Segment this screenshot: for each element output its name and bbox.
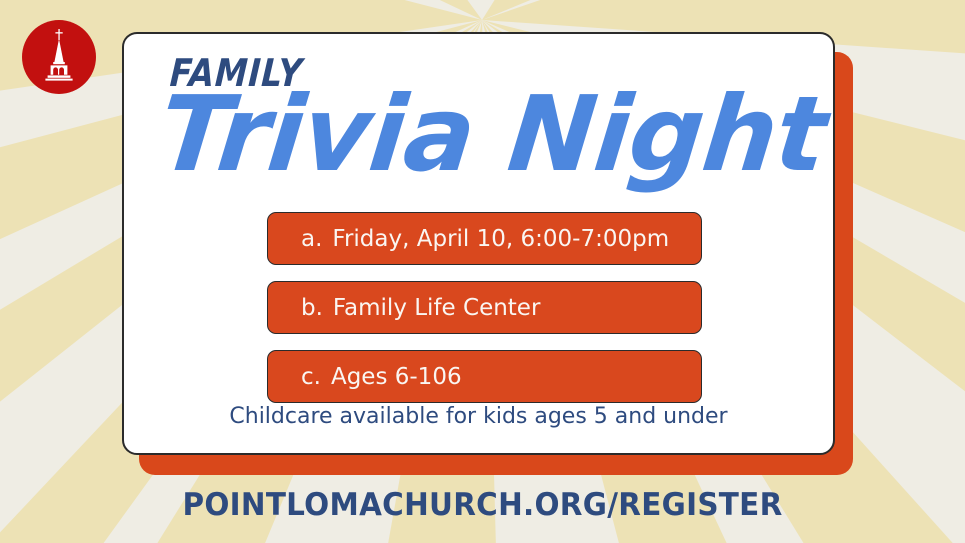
list-item-label: Ages 6-106: [331, 364, 462, 390]
list-item-letter: b.: [301, 295, 323, 321]
slide-canvas: FAMILY Trivia Night a. Friday, April 10,…: [0, 0, 965, 543]
church-steeple-logo: [22, 20, 96, 94]
church-steeple-icon: [39, 29, 79, 85]
details-list: a. Friday, April 10, 6:00-7:00pm b. Fami…: [267, 212, 702, 419]
list-item-label: Family Life Center: [333, 295, 541, 321]
detail-row-location: b. Family Life Center: [267, 281, 702, 334]
flyer-card: FAMILY Trivia Night a. Friday, April 10,…: [122, 32, 835, 455]
page-title: Trivia Night: [155, 82, 831, 186]
list-item-label: Friday, April 10, 6:00-7:00pm: [332, 226, 669, 252]
list-item-letter: c.: [301, 364, 321, 390]
registration-url[interactable]: POINTLOMACHURCH.ORG/REGISTER: [24, 487, 941, 523]
detail-row-date: a. Friday, April 10, 6:00-7:00pm: [267, 212, 702, 265]
list-item-letter: a.: [301, 226, 322, 252]
detail-row-ages: c. Ages 6-106: [267, 350, 702, 403]
childcare-note: Childcare available for kids ages 5 and …: [124, 404, 833, 429]
